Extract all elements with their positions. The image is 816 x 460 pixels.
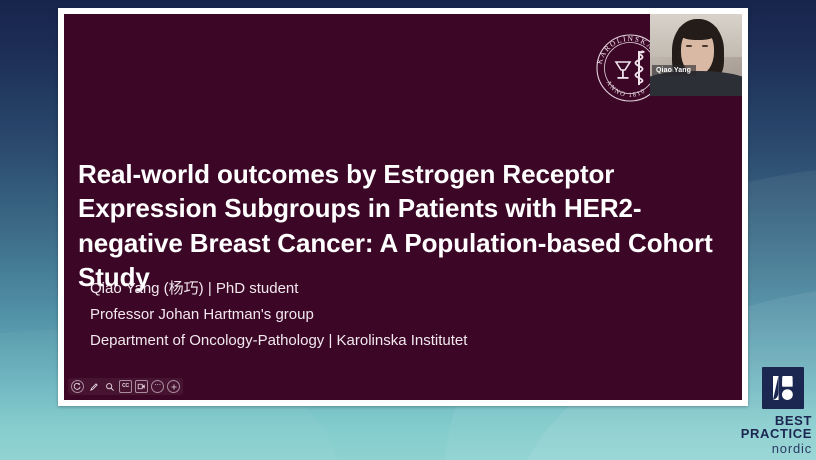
best-practice-nordic-logo-icon: [762, 367, 804, 409]
subtitle-line-author: Qiao Yang (杨巧) | PhD student: [90, 276, 710, 302]
webcam-video-tile[interactable]: Qiao Yang: [650, 14, 742, 96]
best-practice-nordic-wordmark: BEST PRACTICE nordic: [712, 414, 812, 455]
video-layout-button[interactable]: [135, 380, 148, 393]
brand-line-best: BEST: [712, 414, 812, 427]
more-options-button[interactable]: ···: [151, 380, 164, 393]
pen-annotate-button[interactable]: [87, 380, 100, 393]
brand-line-practice: PRACTICE: [712, 427, 812, 440]
subtitle-line-group: Professor Johan Hartman's group: [90, 302, 710, 328]
rewind-button[interactable]: [71, 380, 84, 393]
zoom-search-button[interactable]: [103, 380, 116, 393]
webcam-eye-left: [686, 45, 692, 47]
slide-frame: KAROLINSKA I ANNO 1810 Qiao Yang: [58, 8, 748, 406]
brand-line-nordic: nordic: [712, 442, 812, 455]
webcam-eye-right: [702, 45, 708, 47]
presentation-viewer: KAROLINSKA I ANNO 1810 Qiao Yang: [0, 0, 816, 460]
player-toolbar[interactable]: CC ···: [68, 378, 183, 395]
slide-subtitle: Qiao Yang (杨巧) | PhD student Professor J…: [90, 276, 710, 353]
presentation-slide: KAROLINSKA I ANNO 1810 Qiao Yang: [64, 14, 742, 400]
webcam-fringe: [678, 22, 718, 40]
closed-captions-button[interactable]: CC: [119, 380, 132, 393]
webcam-participant-name: Qiao Yang: [652, 65, 696, 76]
slide-title: Real-world outcomes by Estrogen Receptor…: [78, 157, 738, 294]
fullscreen-expand-button[interactable]: [167, 380, 180, 393]
subtitle-line-department: Department of Oncology-Pathology | Karol…: [90, 328, 710, 354]
